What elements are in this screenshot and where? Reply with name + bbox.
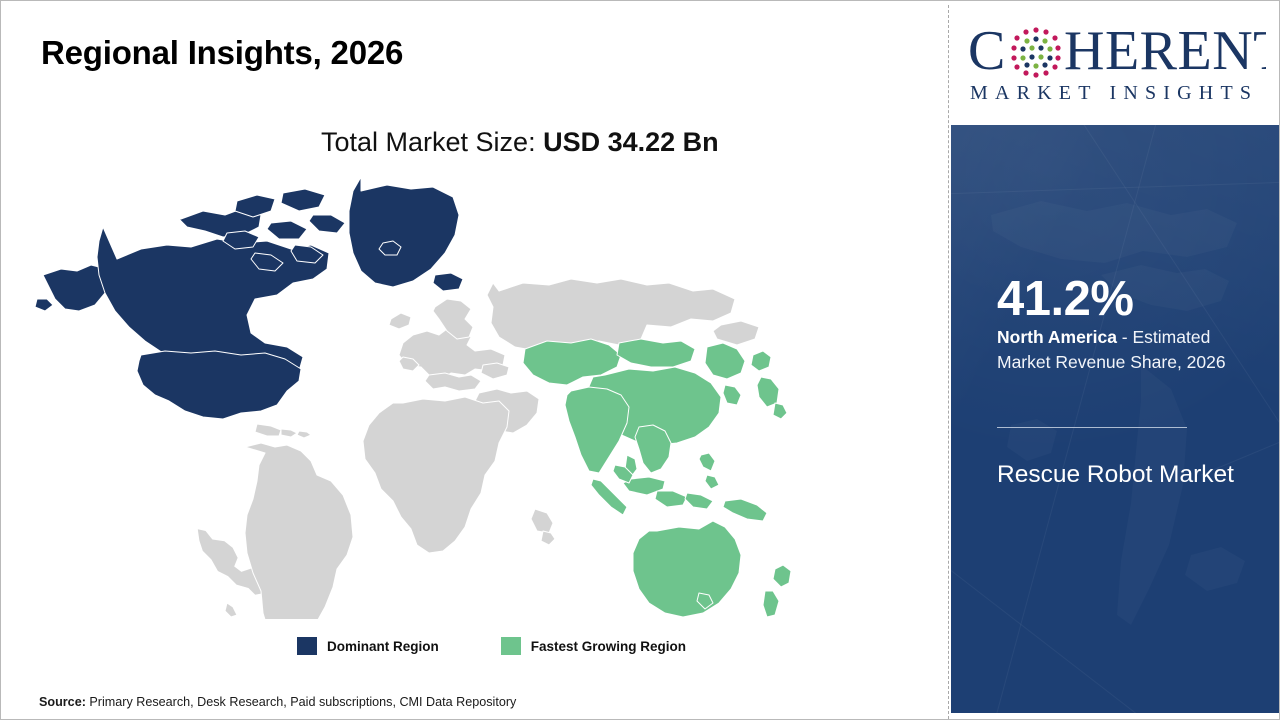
source-label: Source: <box>39 695 86 709</box>
page-title: Regional Insights, 2026 <box>41 34 403 72</box>
legend-label-fastest-growing: Fastest Growing Region <box>531 639 686 654</box>
legend-label-dominant: Dominant Region <box>327 639 439 654</box>
logo-wordmark: HERENT <box>1064 20 1266 82</box>
panel-rule <box>997 427 1187 428</box>
left-panel: Regional Insights, 2026 Total Market Siz… <box>1 1 949 719</box>
map-region-asia-pacific <box>523 339 791 617</box>
highlight-panel: 41.2% North America - Estimated Market R… <box>951 125 1280 713</box>
logo-tagline: MARKET INSIGHTS <box>970 82 1258 104</box>
total-market-size: Total Market Size: USD 34.22 Bn <box>321 127 719 158</box>
brand-logo: C <box>951 2 1280 124</box>
section-divider <box>948 5 949 719</box>
svg-text:C: C <box>968 20 1006 82</box>
coherent-logo-icon: C <box>966 17 1266 109</box>
world-map <box>31 179 831 619</box>
source-note: Source: Primary Research, Desk Research,… <box>39 695 516 709</box>
panel-texture <box>951 125 1280 713</box>
share-description: North America - Estimated Market Revenue… <box>997 325 1265 374</box>
regional-insights-card: Regional Insights, 2026 Total Market Siz… <box>0 0 1280 720</box>
legend-swatch-dominant-icon <box>297 637 317 655</box>
market-name: Rescue Robot Market <box>997 459 1247 492</box>
source-text: Primary Research, Desk Research, Paid su… <box>86 695 516 709</box>
legend-swatch-fastest-growing-icon <box>501 637 521 655</box>
legend-item-fastest-growing: Fastest Growing Region <box>501 637 686 655</box>
map-legend: Dominant Region Fastest Growing Region <box>297 637 686 655</box>
total-market-size-label: Total Market Size: <box>321 127 536 157</box>
map-region-north-america <box>35 179 463 419</box>
share-region: North America <box>997 327 1117 347</box>
legend-item-dominant: Dominant Region <box>297 637 439 655</box>
share-percentage: 41.2% <box>997 275 1133 324</box>
total-market-size-value: USD 34.22 Bn <box>543 127 719 157</box>
globe-dots-icon <box>1011 27 1060 77</box>
